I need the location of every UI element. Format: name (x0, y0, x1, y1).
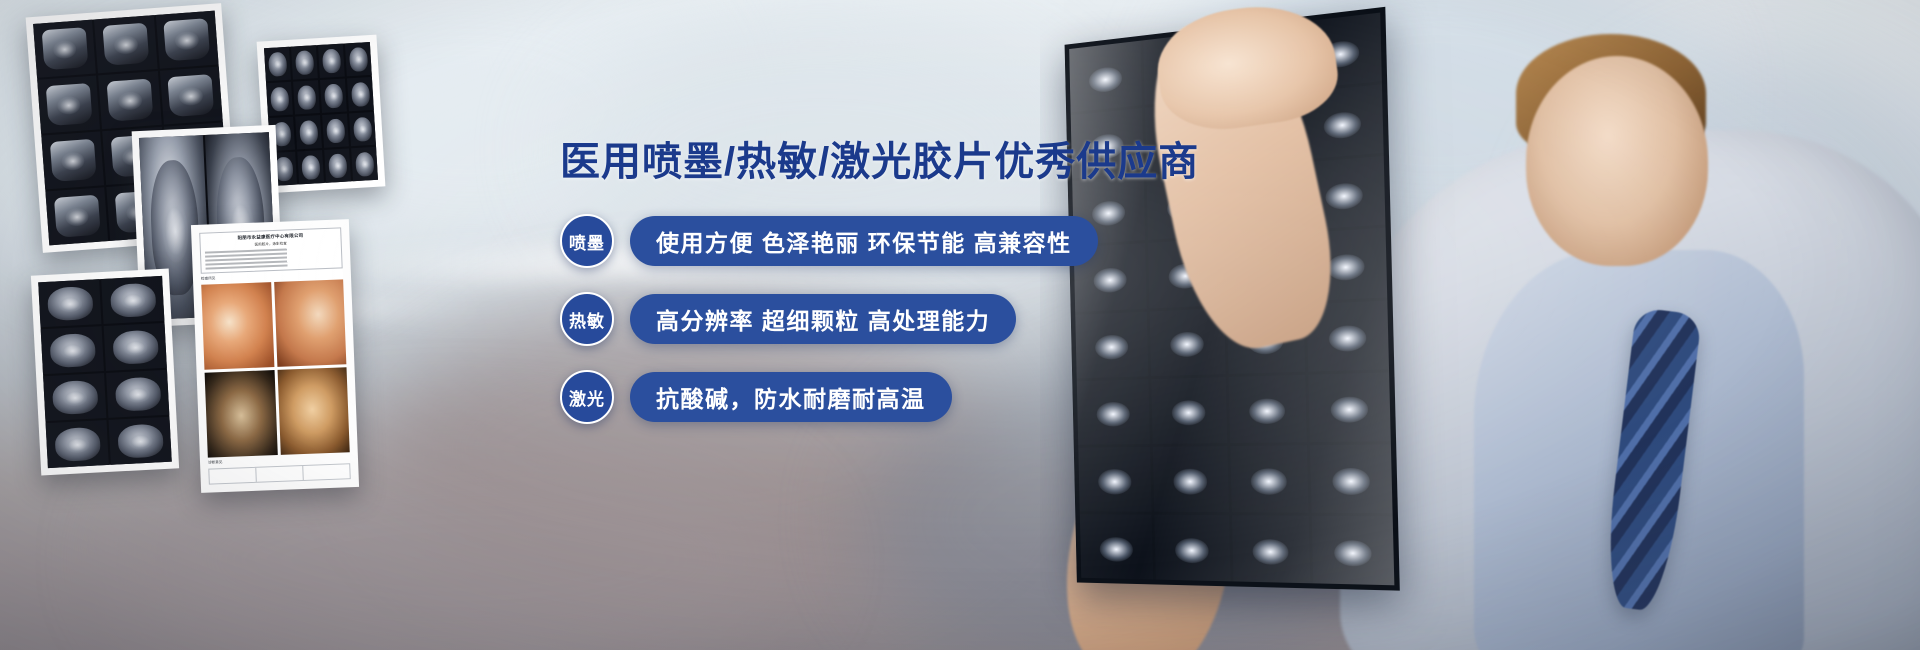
feature-row-inkjet: 喷墨 使用方便 色泽艳丽 环保节能 高兼容性 (560, 214, 1320, 268)
feature-tag-thermal: 热敏 (560, 292, 614, 346)
feature-row-thermal: 热敏 高分辨率 超细颗粒 高处理能力 (560, 292, 1320, 346)
hero-banner: 阳朋市永益康医疗中心有限公司 医用胶片，造影检查 检查所见 诊断意见 (0, 0, 1920, 650)
feature-text-laser: 抗酸碱，防水耐磨耐高温 (630, 372, 952, 422)
feature-tag-inkjet: 喷墨 (560, 214, 614, 268)
feature-list: 喷墨 使用方便 色泽艳丽 环保节能 高兼容性 热敏 高分辨率 超细颗粒 高处理能… (560, 214, 1320, 424)
feature-row-laser: 激光 抗酸碱，防水耐磨耐高温 (560, 370, 1320, 424)
banner-content: 医用喷墨/热敏/激光胶片优秀供应商 喷墨 使用方便 色泽艳丽 环保节能 高兼容性… (560, 140, 1320, 424)
feature-text-thermal: 高分辨率 超细颗粒 高处理能力 (630, 294, 1016, 344)
page-title: 医用喷墨/热敏/激光胶片优秀供应商 (560, 140, 1320, 184)
feature-tag-laser: 激光 (560, 370, 614, 424)
feature-text-inkjet: 使用方便 色泽艳丽 环保节能 高兼容性 (630, 216, 1098, 266)
